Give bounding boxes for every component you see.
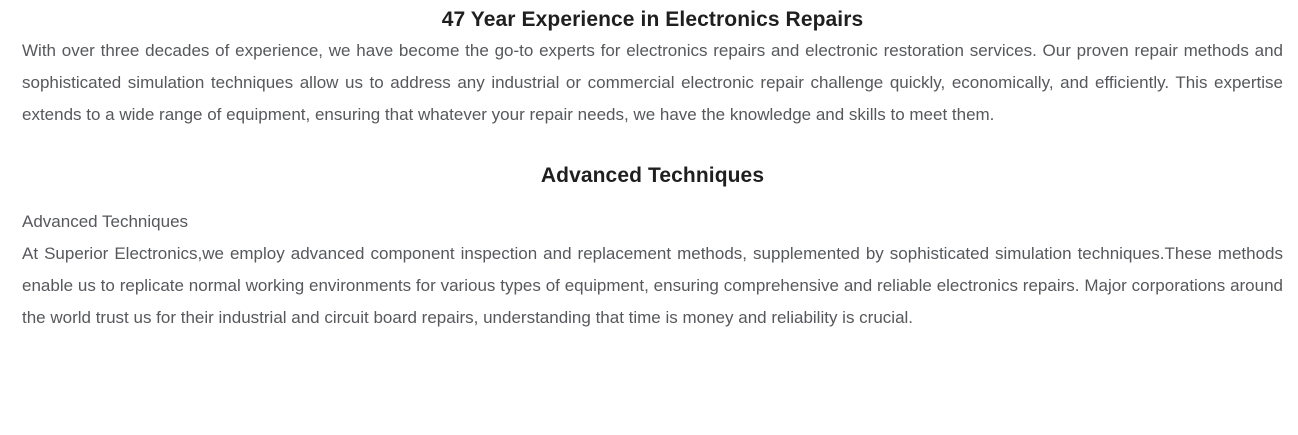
advanced-techniques-lead-line: Advanced Techniques [22, 206, 1283, 238]
document-page: 47 Year Experience in Electronics Repair… [0, 0, 1298, 435]
advanced-techniques-paragraph: At Superior Electronics,we employ advanc… [22, 238, 1283, 334]
intro-paragraph: With over three decades of experience, w… [22, 35, 1283, 131]
page-title: 47 Year Experience in Electronics Repair… [22, 0, 1283, 35]
section-spacer [22, 131, 1283, 155]
section-heading-advanced-techniques: Advanced Techniques [22, 155, 1283, 191]
heading-spacer [22, 191, 1283, 206]
